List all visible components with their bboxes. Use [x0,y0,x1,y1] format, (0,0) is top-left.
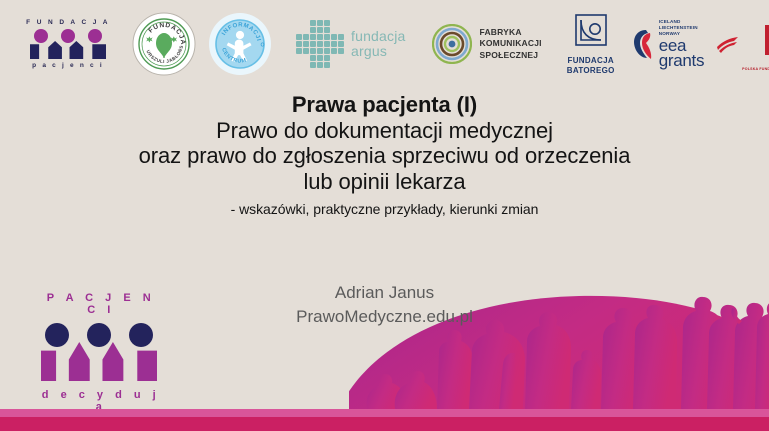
logo-fabryka-komunikacji-spolecznej: FABRYKA KOMUNIKACJI SPOŁECZNEJ [432,24,542,64]
logo-pacjenci-decyduja: P A C J E N C I d e c y d u j ą [36,292,162,413]
my-pacjenci-figures-icon [30,29,106,59]
eea-wordmark: ICELAND LIECHTENSTEIN NORWAY eea grants [659,19,704,69]
pfdim-face-icon [759,17,769,61]
title-line-2: Prawo do dokumentacji medycznej [0,118,769,144]
logo-my-pacjenci-kicker: F U N D A C J A [22,19,114,26]
logo-polska-fundacja-dzieci-i-mlodziezy: POLSKA FUNDACJA DZIECI I MŁODZIEŻY [716,17,769,71]
argus-line-1: fundacja [351,29,406,44]
batorego-mark-icon [571,13,611,49]
fks-wordmark: FABRYKA KOMUNIKACJI SPOŁECZNEJ [480,27,542,61]
fks-line-1: FABRYKA [480,27,542,38]
fks-line-2: KOMUNIKACJI [480,38,542,49]
argus-line-2: argus [351,44,406,59]
bottom-accent-bar-light [0,409,769,417]
ginkgo-seal-icon: FUNDACJA URSZULI JABŁOŃSKIEJ [132,12,196,76]
title-line-3: oraz prawo do zgłoszenia sprzeciwu od or… [0,143,769,169]
logo-fundacja-argus: fundacja argus [296,20,406,68]
title-line-1: Prawa pacjenta (I) [0,92,769,118]
pacjenci-decyduja-figures-icon [41,323,157,381]
logo-fundacja-batorego: FUNDACJA BATOREGO [560,13,622,76]
pfdim-footer: POLSKA FUNDACJA DZIECI I MŁODZIEŻY [742,67,769,71]
eea-emblem-icon [632,27,654,61]
ciol-side-text: O [260,43,264,49]
logo-fundacja-my-pacjenci: F U N D A C J A p a c j e n c i [22,19,114,69]
logo-my-pacjenci-footer: p a c j e n c i [22,62,114,69]
title-subnote: - wskazówki, praktyczne przykłady, kieru… [0,201,769,217]
argus-cross-icon [296,20,344,68]
pfdim-arrow-icon [716,33,740,55]
ciol-seal-icon: INFORMACJI CENTRUM O [208,12,272,76]
title-line-4: lub opinii lekarza [0,169,769,195]
sponsor-logo-bar: F U N D A C J A p a c j e n c i [0,0,769,88]
logo-eea-grants: ICELAND LIECHTENSTEIN NORWAY eea grants [632,19,704,69]
batorego-line-1: FUNDACJA [560,56,622,66]
fks-rings-icon [432,24,472,64]
argus-wordmark: fundacja argus [351,29,406,58]
pacjenci-decyduja-top-text: P A C J E N C I [40,292,162,316]
logo-centrum-informacji-o-leku: INFORMACJI CENTRUM O [208,12,272,76]
eea-line-2: grants [659,53,704,69]
logo-fundacja-urszuli-jablonskiej: FUNDACJA URSZULI JABŁOŃSKIEJ [132,12,196,76]
presentation-slide: F U N D A C J A p a c j e n c i [0,0,769,431]
pfdim-mark: POLSKA FUNDACJA DZIECI I MŁODZIEŻY [742,17,769,71]
bottom-accent-bar [0,417,769,431]
slide-title-block: Prawa pacjenta (I) Prawo do dokumentacji… [0,92,769,217]
fks-line-3: SPOŁECZNEJ [480,50,542,61]
batorego-wordmark: FUNDACJA BATOREGO [560,56,622,76]
batorego-line-2: BATOREGO [560,66,622,76]
